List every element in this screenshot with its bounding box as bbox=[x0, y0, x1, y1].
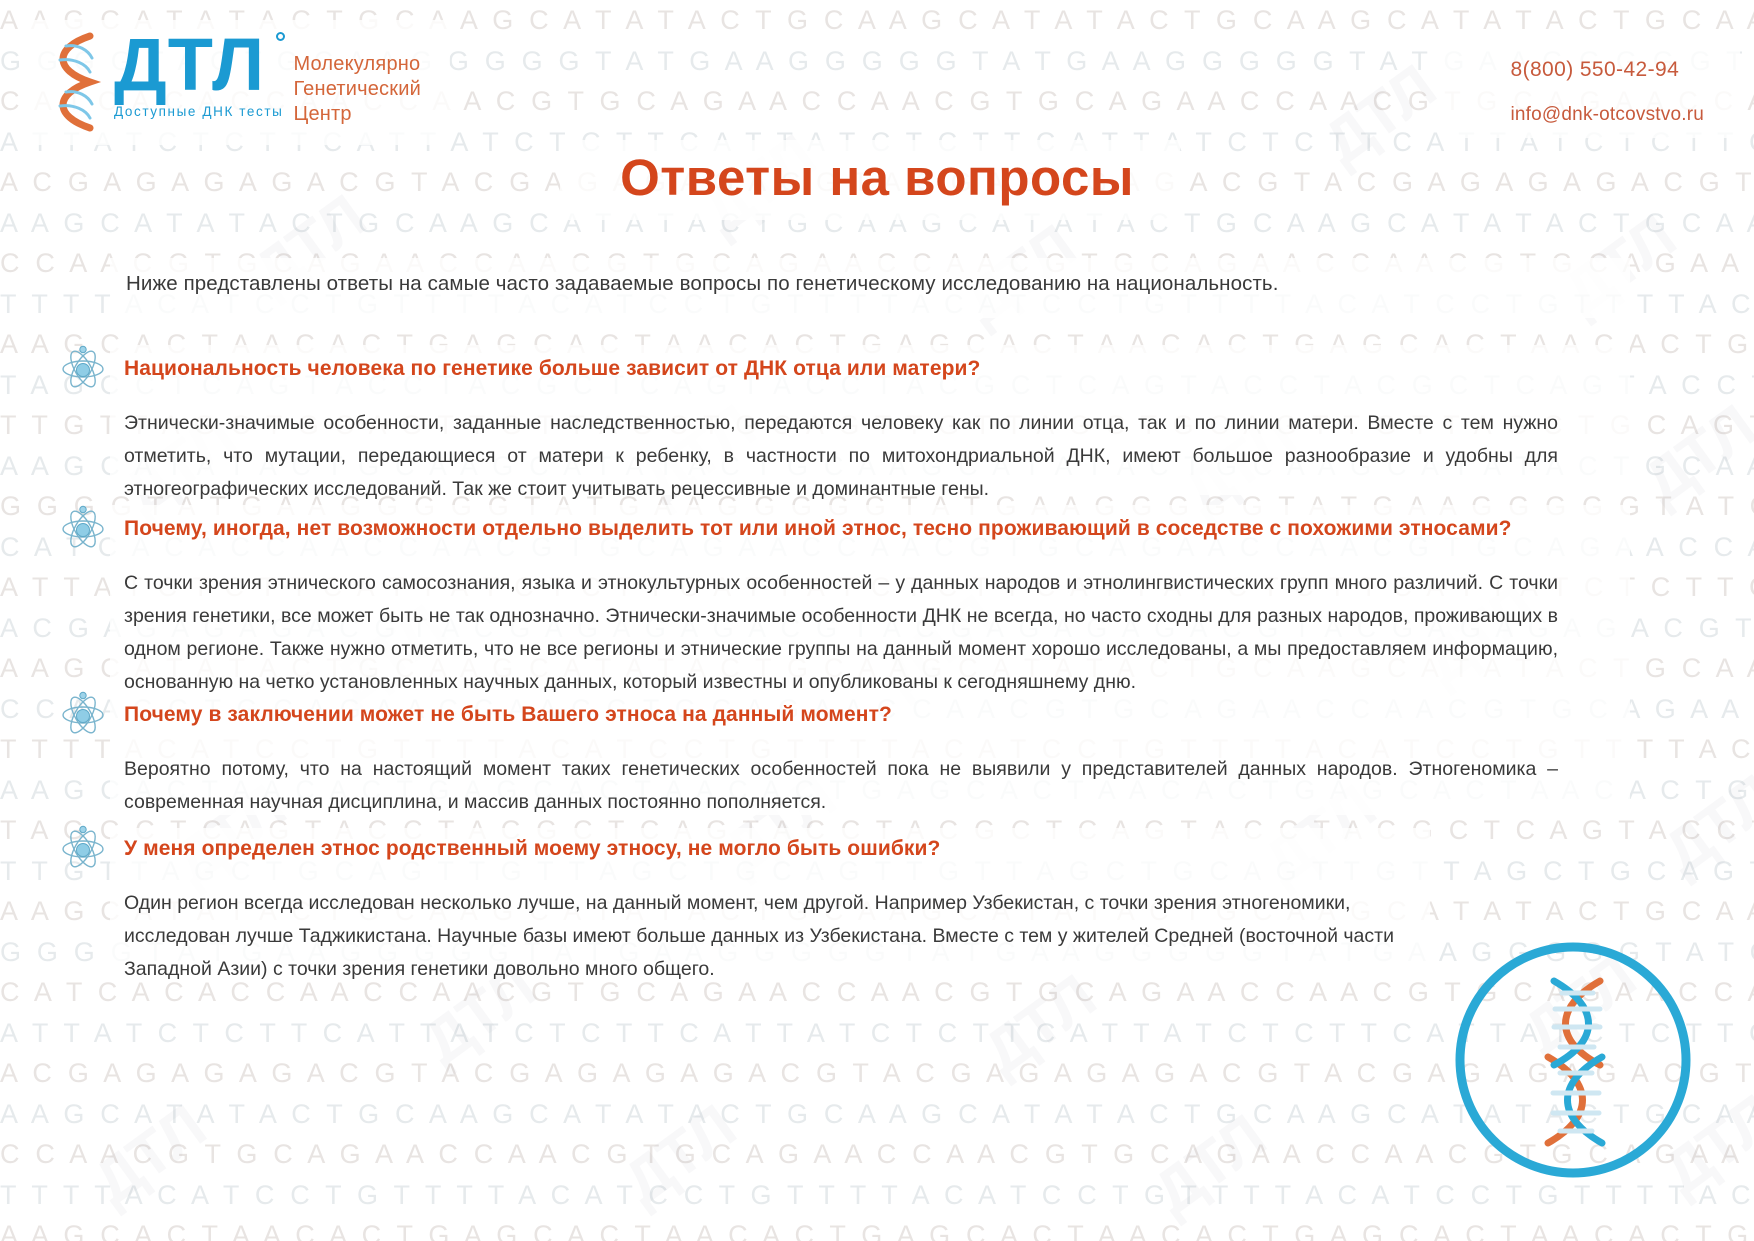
faq-item-2: Почему, иногда, нет возможности отдельно… bbox=[60, 512, 1620, 699]
email-address[interactable]: info@dnk-otcovstvo.ru bbox=[1510, 104, 1704, 126]
logo-side-line-3: Центр bbox=[293, 102, 421, 127]
faq-question[interactable]: Национальность человека по генетике боль… bbox=[124, 352, 980, 382]
faq-item-3: Почему в заключении может не быть Вашего… bbox=[60, 698, 1620, 819]
logo-tagline: Доступные ДНК тесты bbox=[114, 104, 283, 119]
intro-paragraph: Ниже представлены ответы на самые часто … bbox=[126, 272, 1626, 296]
faq-answer: С точки зрения этнического самосознания,… bbox=[124, 567, 1558, 699]
logo-side-text: Молекулярно Генетический Центр bbox=[293, 52, 421, 127]
dna-circle-badge bbox=[1450, 937, 1696, 1183]
faq-page: A A G C A T A T A C T G C A A G C A T A … bbox=[0, 0, 1754, 1241]
faq-item-4: У меня определен этнос родственный моему… bbox=[60, 832, 1620, 986]
dna-helix-icon bbox=[44, 30, 110, 134]
atom-icon bbox=[60, 344, 106, 390]
faq-answer: Этнически-значимые особенности, заданные… bbox=[124, 407, 1558, 506]
atom-icon bbox=[60, 824, 106, 870]
faq-question[interactable]: Почему в заключении может не быть Вашего… bbox=[124, 698, 892, 728]
faq-item-1: Национальность человека по генетике боль… bbox=[60, 352, 1620, 506]
page-title: Ответы на вопросы bbox=[0, 148, 1754, 207]
header-contacts: 8(800) 550-42-94 info@dnk-otcovstvo.ru bbox=[1510, 58, 1704, 126]
faq-question[interactable]: У меня определен этнос родственный моему… bbox=[124, 832, 940, 862]
logo-side-line-2: Генетический bbox=[293, 77, 421, 102]
faq-answer: Вероятно потому, что на настоящий момент… bbox=[124, 753, 1558, 819]
atom-icon bbox=[60, 690, 106, 736]
brand-logo[interactable]: ДТЛ Доступные ДНК тесты Молекулярно Гене… bbox=[44, 30, 421, 134]
logo-side-line-1: Молекулярно bbox=[293, 52, 421, 77]
logo-wordmark: ДТЛ bbox=[114, 30, 283, 100]
faq-question[interactable]: Почему, иногда, нет возможности отдельно… bbox=[124, 512, 1512, 542]
logo-dot-icon bbox=[276, 32, 285, 41]
atom-icon bbox=[60, 504, 106, 550]
faq-answer: Один регион всегда исследован несколько … bbox=[124, 887, 1444, 986]
phone-number[interactable]: 8(800) 550-42-94 bbox=[1510, 58, 1704, 82]
